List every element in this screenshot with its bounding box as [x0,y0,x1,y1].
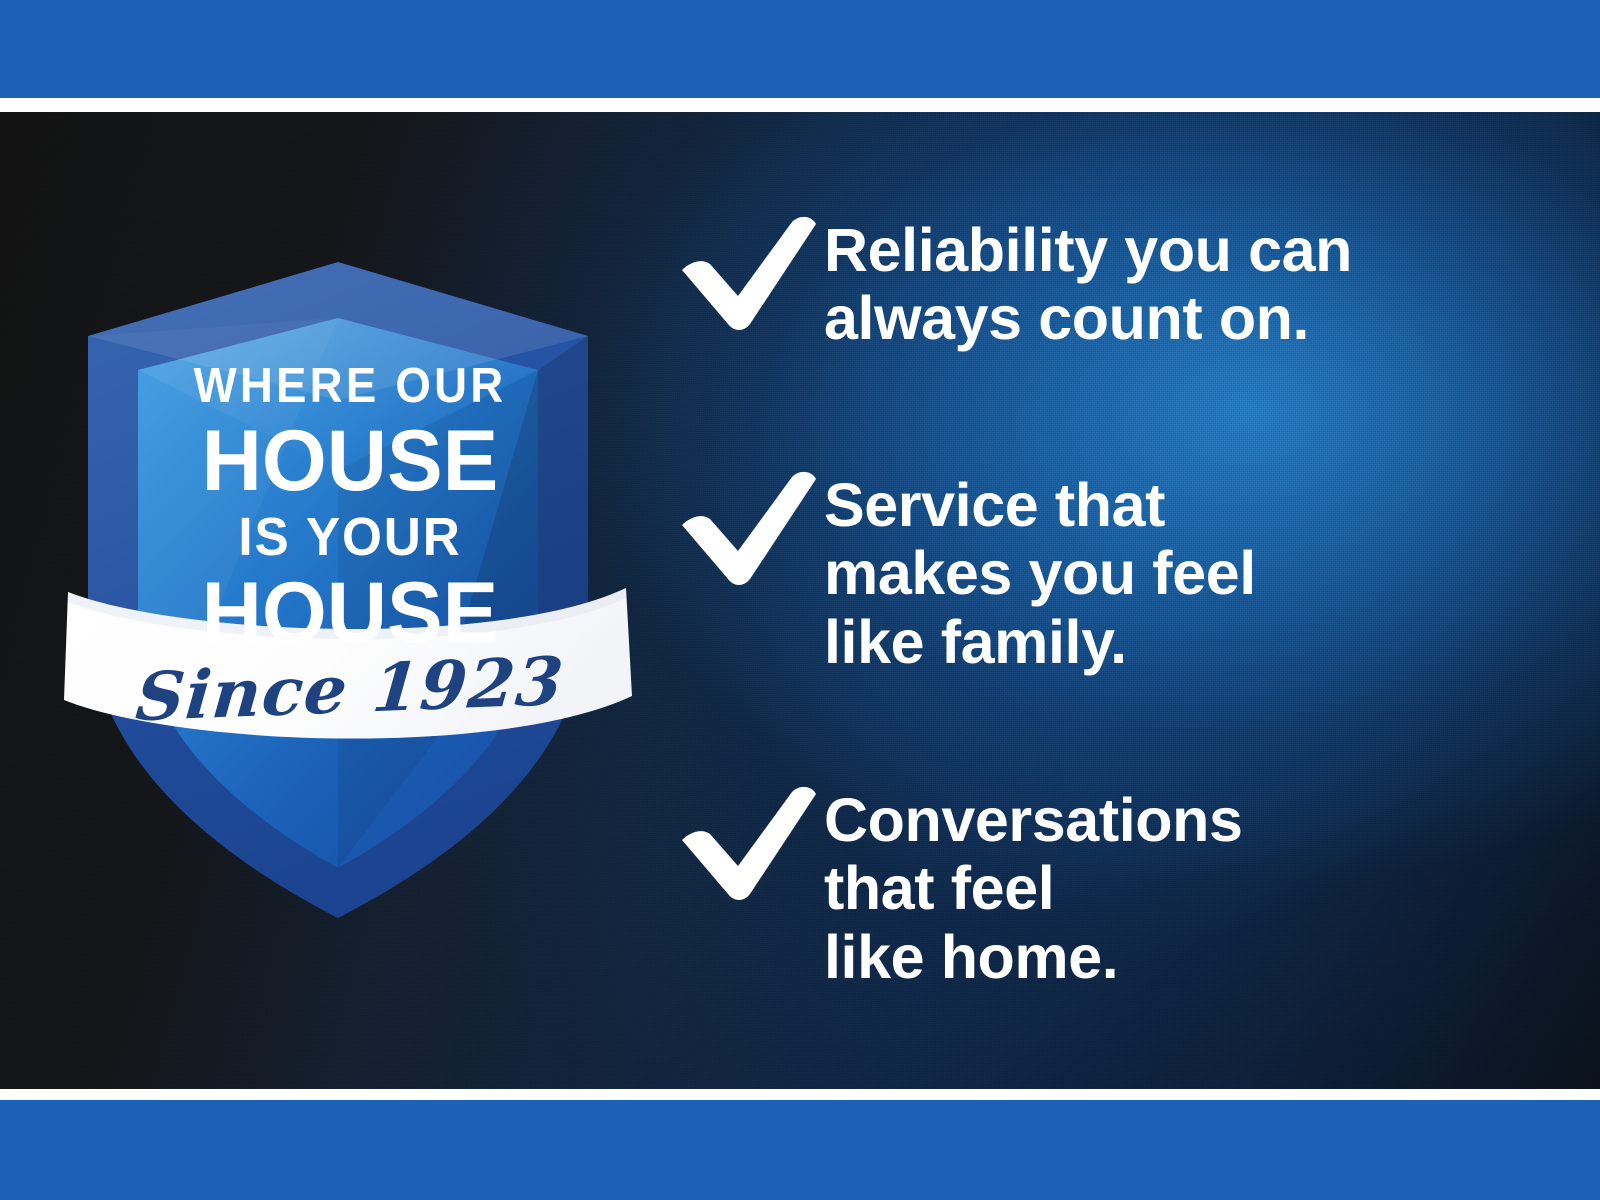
list-item: Reliability you can always count on. [672,212,1352,353]
check-icon [672,467,824,587]
list-item-line: like family. [824,608,1256,676]
bottom-brand-bar [0,1100,1600,1200]
list-item: Service that makes you feel like family. [672,467,1256,676]
bottom-white-divider [0,1089,1600,1100]
list-item-text: Reliability you can always count on. [824,212,1352,353]
badge-line-1: WHERE OUR [80,362,619,411]
top-white-divider [0,98,1600,112]
promo-graphic: WHERE OUR HOUSE IS YOUR HOUSE Since 1923… [0,0,1600,1200]
brand-shield-badge: WHERE OUR HOUSE IS YOUR HOUSE Since 1923 [60,140,640,840]
list-item-text: Service that makes you feel like family. [824,467,1256,676]
benefits-list: Reliability you can always count on. Ser… [672,112,1532,1089]
check-icon [672,782,824,902]
badge-line-3: IS YOUR [75,510,626,564]
list-item-line: Conversations [824,786,1243,854]
list-item-line: Service that [824,471,1256,539]
list-item-line: like home. [824,923,1243,991]
check-icon [672,212,824,332]
list-item-text: Conversations that feel like home. [824,782,1243,991]
list-item-line: Reliability you can [824,216,1352,284]
top-brand-bar [0,0,1600,98]
list-item-line: always count on. [824,284,1352,352]
list-item-line: makes you feel [824,539,1256,607]
badge-line-2: HOUSE [69,418,632,504]
list-item-line: that feel [824,854,1243,922]
list-item: Conversations that feel like home. [672,782,1243,991]
